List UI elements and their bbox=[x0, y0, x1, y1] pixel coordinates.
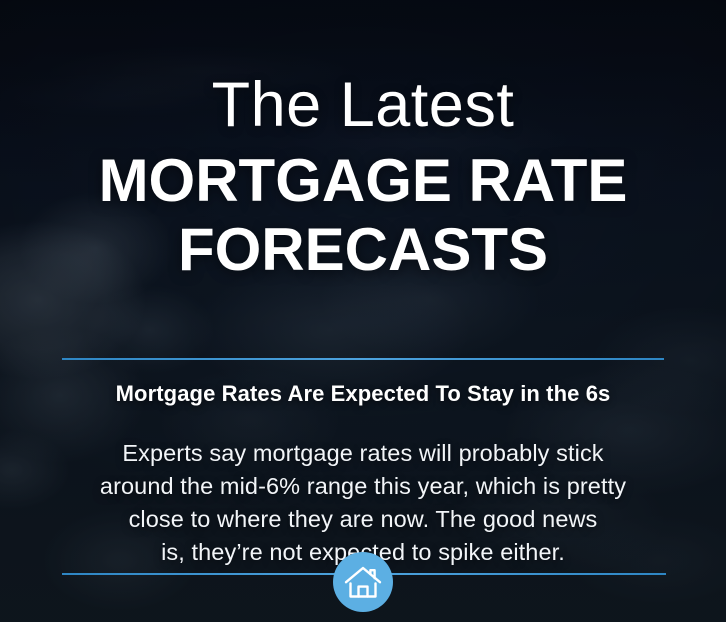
mortgage-rate-forecast-infographic: The Latest MORTGAGE RATE FORECASTS Mortg… bbox=[0, 0, 726, 622]
body-paragraph: Experts say mortgage rates will probably… bbox=[58, 437, 668, 569]
body-line: around the mid-6% range this year, which… bbox=[58, 470, 668, 503]
title-line-light: The Latest bbox=[0, 74, 726, 137]
house-icon bbox=[343, 564, 383, 600]
page-title: MORTGAGE RATE FORECASTS bbox=[0, 152, 726, 280]
title-line-bold-2: FORECASTS bbox=[0, 221, 726, 280]
body-line: close to where they are now. The good ne… bbox=[58, 503, 668, 536]
infographic-content: The Latest MORTGAGE RATE FORECASTS Mortg… bbox=[0, 0, 726, 622]
house-badge bbox=[333, 552, 393, 612]
title-line-bold-1: MORTGAGE RATE bbox=[0, 152, 726, 211]
body-line: Experts say mortgage rates will probably… bbox=[58, 437, 668, 470]
divider-top bbox=[62, 358, 664, 360]
section-subheading: Mortgage Rates Are Expected To Stay in t… bbox=[0, 381, 726, 407]
